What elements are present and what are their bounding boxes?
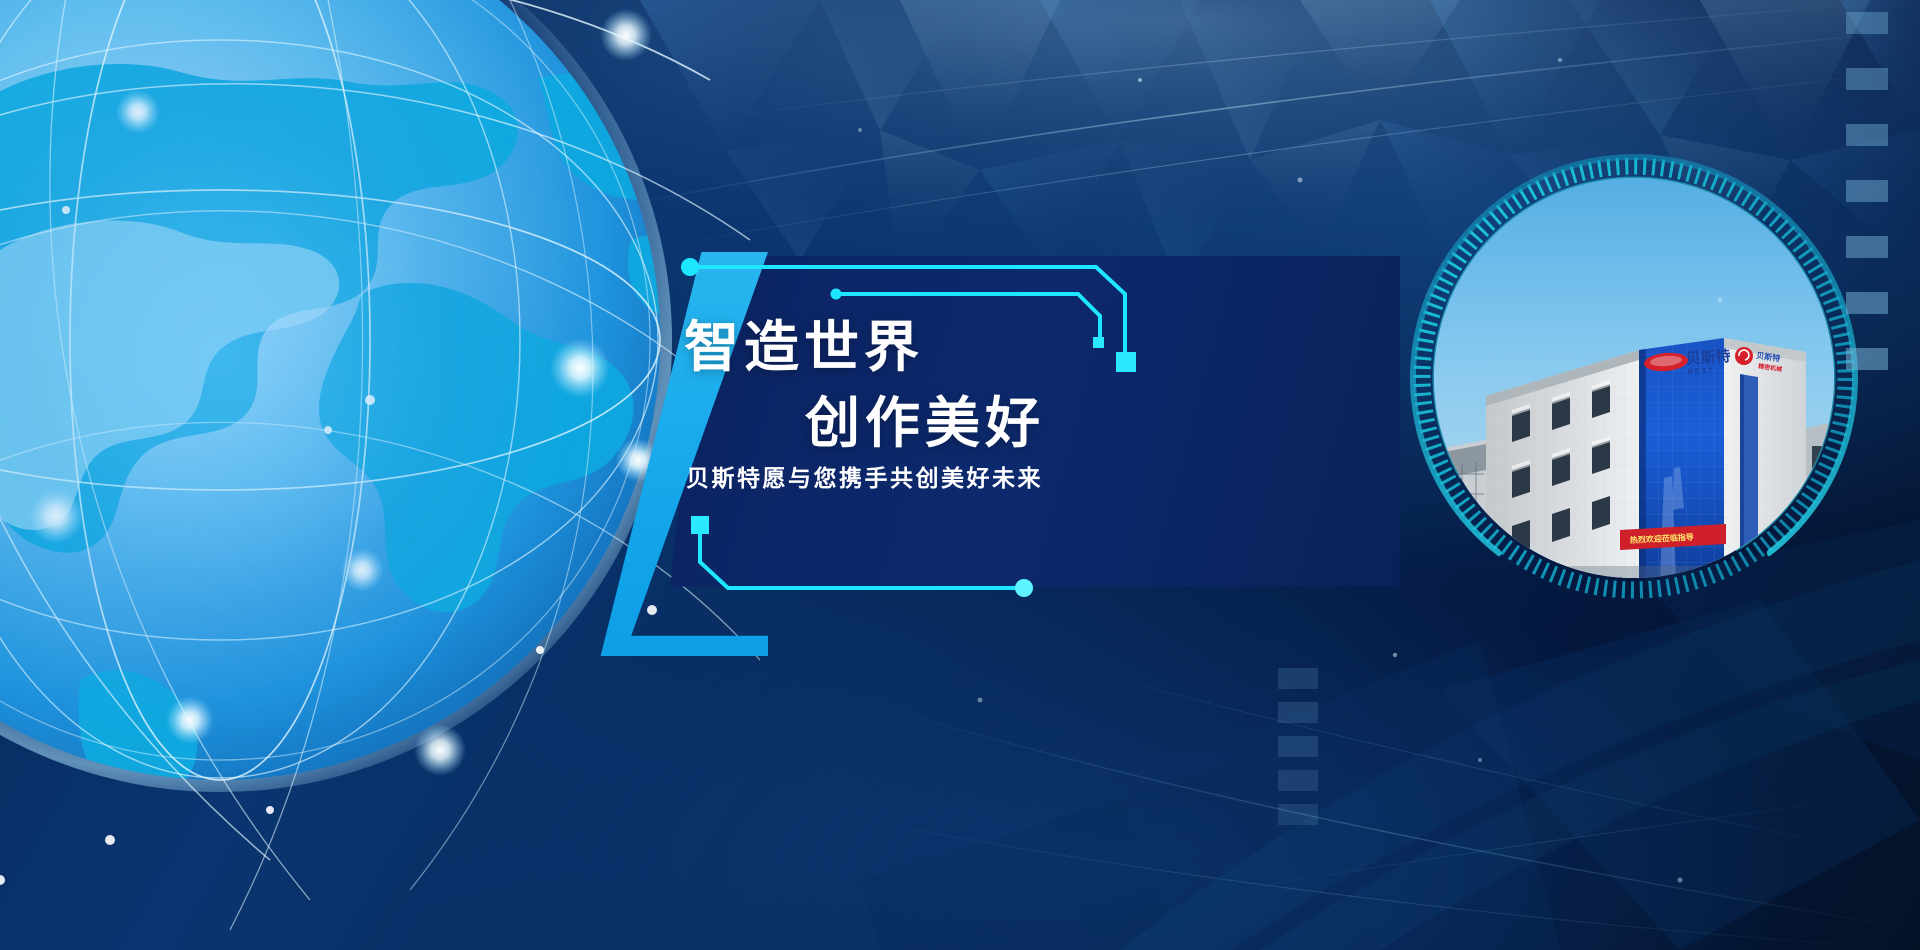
right-edge-tick-column	[1846, 12, 1888, 370]
tick-mark	[1846, 292, 1888, 314]
tick-mark	[1846, 12, 1888, 34]
tick-mark	[1278, 770, 1318, 791]
tick-mark	[1278, 702, 1318, 723]
tick-mark	[1846, 236, 1888, 258]
lower-tick-column	[1278, 668, 1318, 825]
tick-mark	[1846, 348, 1888, 370]
headline-line-1: 智造世界	[684, 302, 924, 382]
building-photo-image: 贝斯特 BEST 贝斯特 精密机械 热烈欢迎莅临指导	[1434, 178, 1834, 578]
company-hero-banner: 贝斯特 BEST 贝斯特 精密机械 热烈欢迎莅临指导	[0, 0, 1920, 950]
tick-mark	[1278, 736, 1318, 757]
company-headquarters-building-photo: 贝斯特 BEST 贝斯特 精密机械 热烈欢迎莅临指导	[1434, 178, 1834, 578]
tick-mark	[1846, 180, 1888, 202]
headline-line-2: 创作美好	[805, 378, 1045, 458]
tick-mark	[1278, 804, 1318, 825]
hero-subtitle: 贝斯特愿与您携手共创美好未来	[686, 459, 1043, 493]
tick-mark	[1278, 668, 1318, 689]
hero-content-panel: 智造世界 创作美好 贝斯特愿与您携手共创美好未来	[640, 256, 1400, 652]
tick-mark	[1846, 68, 1888, 90]
svg-text:贝斯特: 贝斯特	[1685, 347, 1731, 368]
tick-mark	[1846, 124, 1888, 146]
